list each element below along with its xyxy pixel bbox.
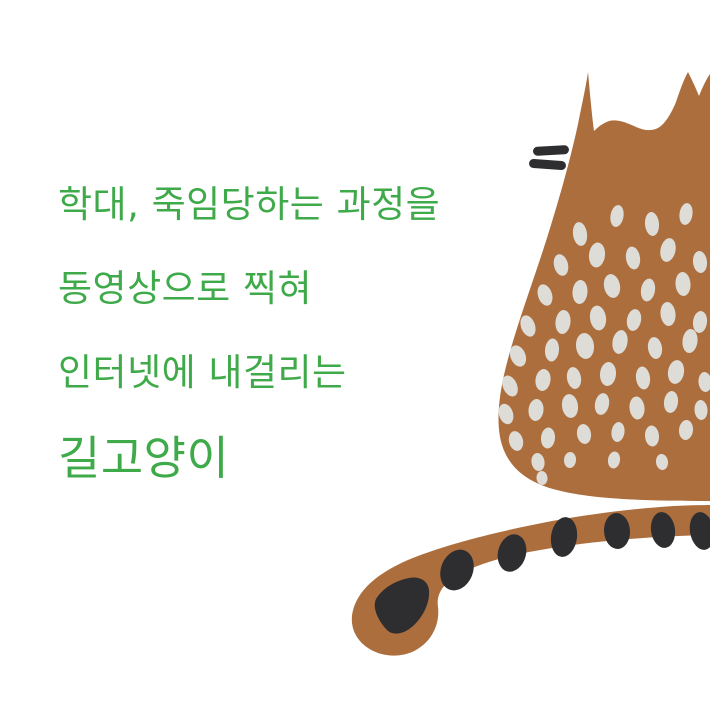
headline-line-4: 길고양이 <box>58 415 498 501</box>
headline-line-3: 인터넷에 내걸리는 <box>58 331 498 415</box>
headline-line-2: 동영상으로 찍혀 <box>58 247 498 331</box>
whisker-upper <box>533 145 569 156</box>
headline-block: 학대, 죽임당하는 과정을 동영상으로 찍혀 인터넷에 내걸리는 길고양이 <box>58 163 498 501</box>
headline-line-1: 학대, 죽임당하는 과정을 <box>58 163 498 247</box>
poster-canvas: 학대, 죽임당하는 과정을 동영상으로 찍혀 인터넷에 내걸리는 길고양이 <box>0 0 710 710</box>
cat-whiskers <box>529 145 569 170</box>
whisker-lower <box>529 159 567 171</box>
